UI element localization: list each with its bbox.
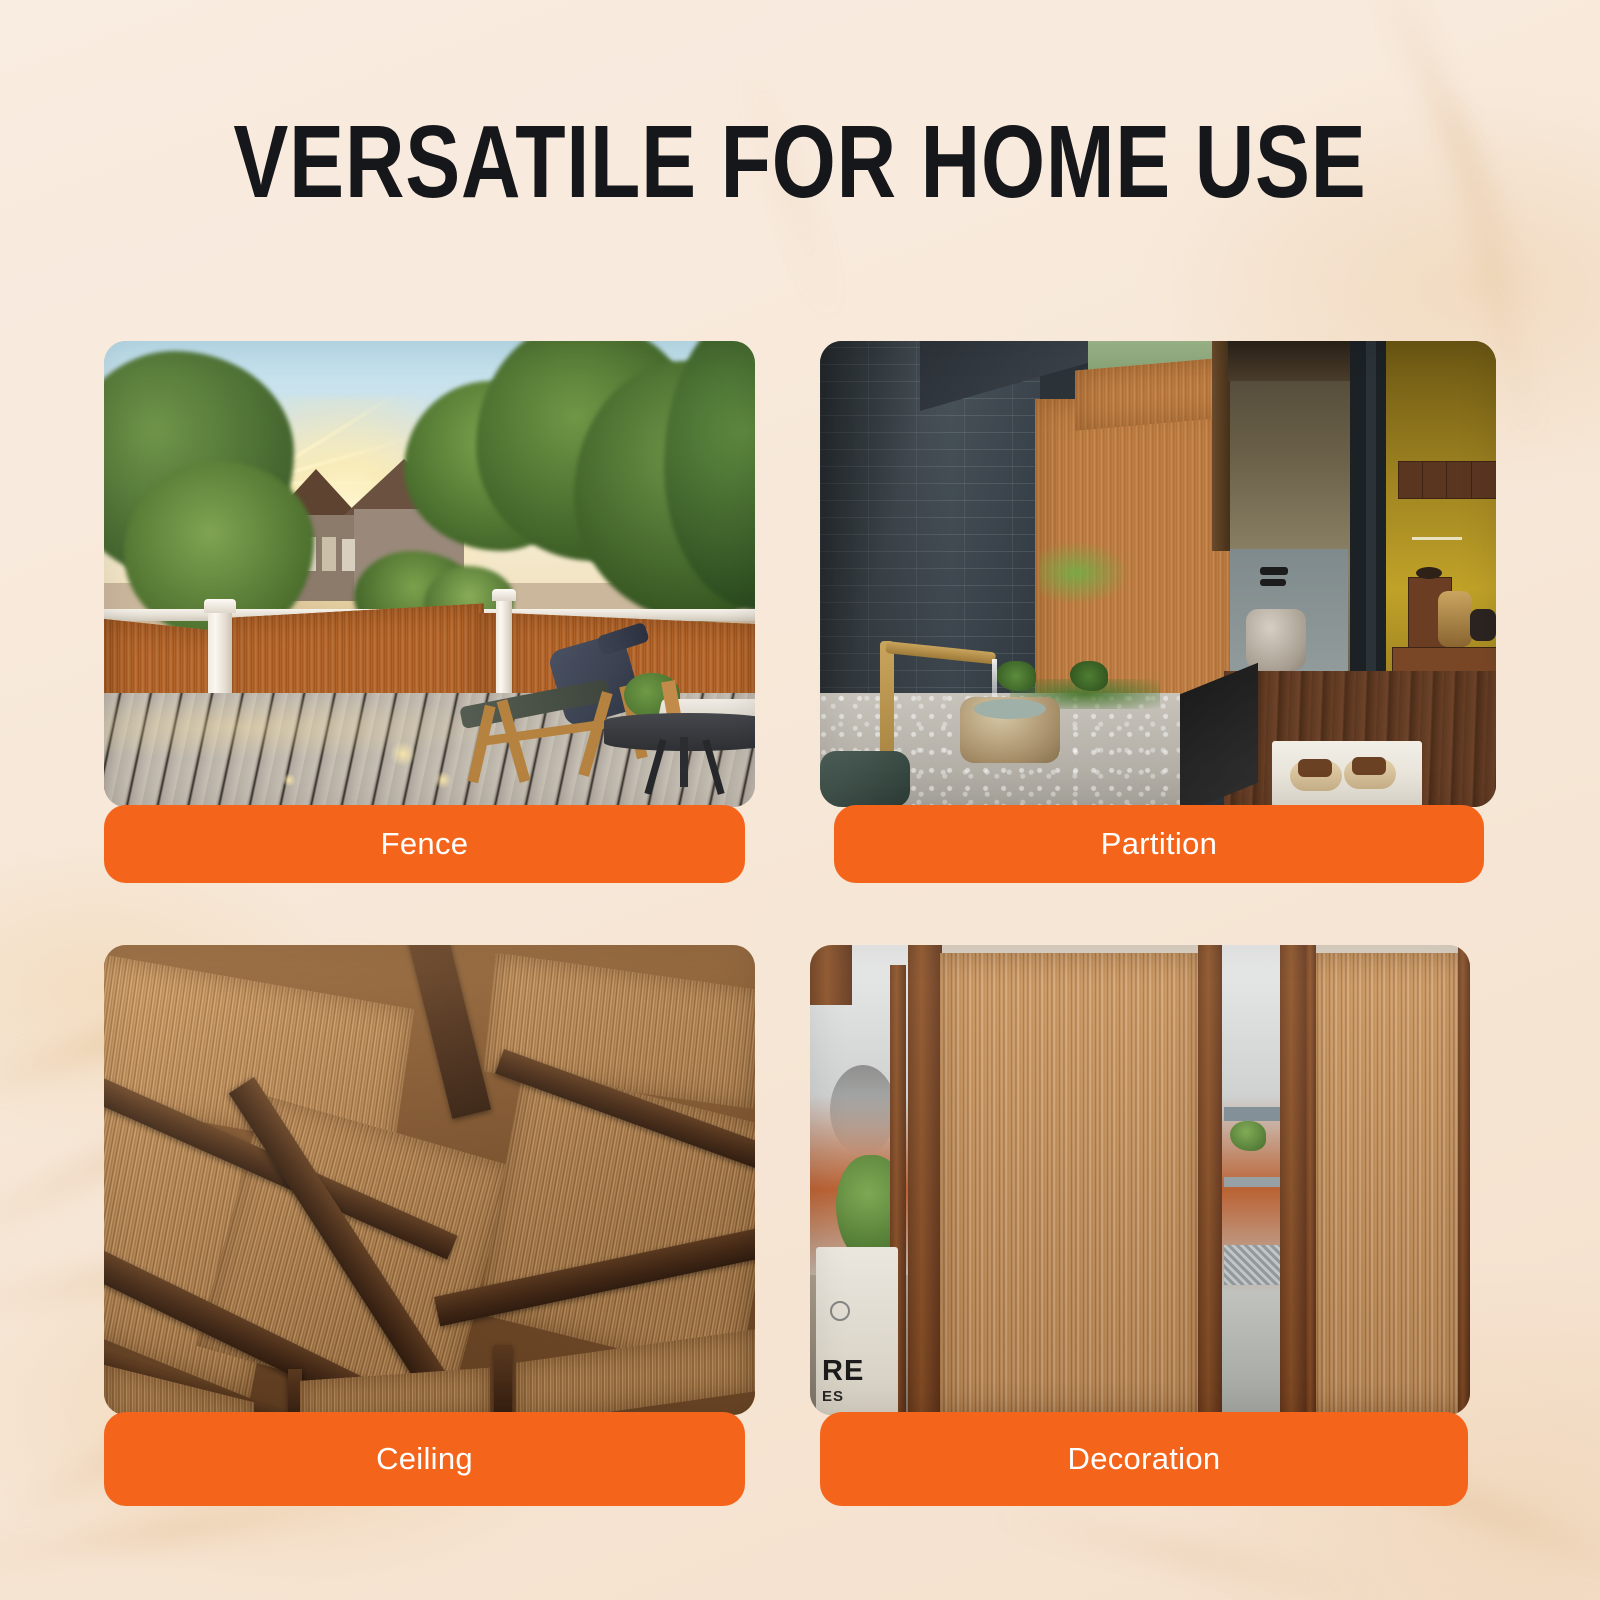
use-case-grid: Fence [104, 341, 1496, 1503]
fence-photo [104, 341, 755, 807]
decoration-photo: RE ES [810, 945, 1470, 1415]
promo-page: VERSATILE FOR HOME USE [0, 0, 1600, 1600]
use-case-card-fence[interactable]: Fence [104, 341, 755, 886]
page-title: VERSATILE FOR HOME USE [160, 110, 1440, 213]
use-case-card-decoration[interactable]: RE ES [810, 945, 1461, 1490]
card-caption-partition: Partition [834, 805, 1484, 883]
card-caption-decoration: Decoration [820, 1412, 1468, 1506]
use-case-card-ceiling[interactable]: Ceiling [104, 945, 755, 1490]
ceiling-photo [104, 945, 755, 1415]
card-caption-ceiling: Ceiling [104, 1412, 745, 1506]
partition-photo [820, 341, 1496, 807]
use-case-card-partition[interactable]: Partition [820, 341, 1471, 886]
card-caption-fence: Fence [104, 805, 745, 883]
